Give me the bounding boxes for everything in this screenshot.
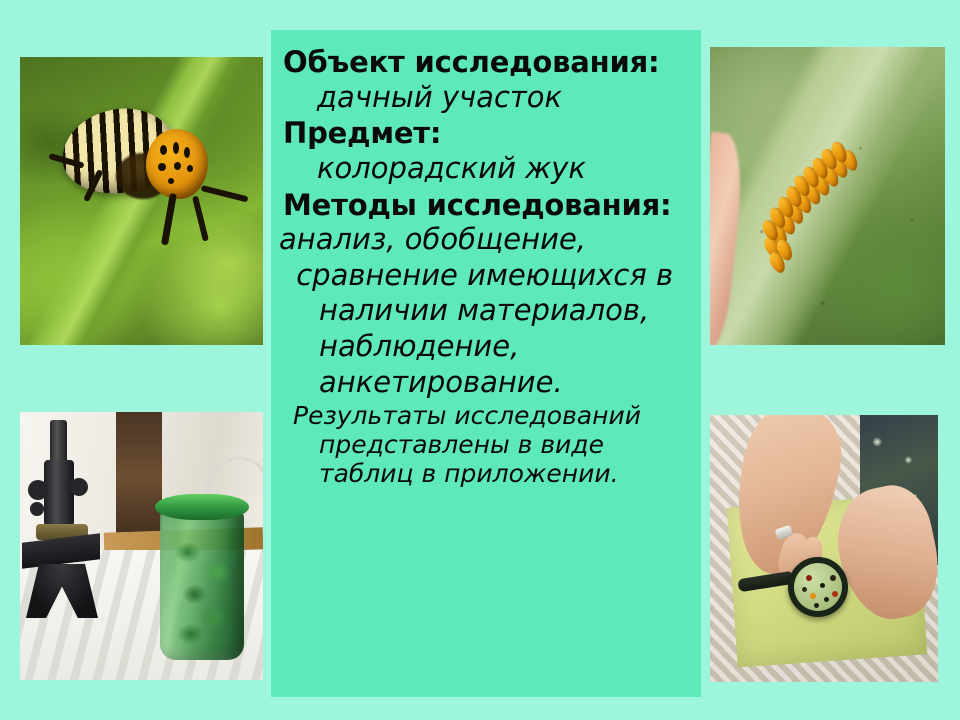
microscope-body-tube: [44, 460, 74, 526]
object-label: Объект исследования:: [283, 46, 693, 80]
subject-value: колорадский жук: [317, 152, 693, 186]
methods-line-2: сравнение имеющихся в: [287, 259, 693, 293]
photo-microscope-and-specimen-jar: [20, 412, 263, 680]
photo-colorado-potato-beetle: [20, 57, 263, 345]
photo-beetle-egg-cluster: [710, 47, 945, 345]
presentation-slide: Объект исследования: дачный участок Пред…: [0, 0, 960, 720]
photo-hands-with-magnifying-glass: [710, 415, 938, 682]
methods-line-4: наблюдение,: [319, 330, 693, 364]
methods-line-3: наличии материалов,: [319, 294, 693, 328]
methods-line-5: анкетирование.: [319, 366, 693, 400]
jar-green-lid: [155, 494, 249, 520]
results-line-3: таблиц в приложении.: [319, 459, 693, 488]
methods-line-1: анализ, обобщение,: [279, 223, 693, 257]
results-line-2: представлены в виде: [319, 430, 693, 459]
beetle-head: [146, 129, 208, 199]
object-value: дачный участок: [317, 81, 693, 115]
methods-label: Методы исследования:: [283, 189, 693, 223]
text-content-panel: Объект исследования: дачный участок Пред…: [271, 30, 701, 697]
results-line-1: Результаты исследований: [293, 401, 693, 430]
subject-label: Предмет:: [283, 117, 693, 151]
jar-leaf-contents: [166, 530, 238, 654]
